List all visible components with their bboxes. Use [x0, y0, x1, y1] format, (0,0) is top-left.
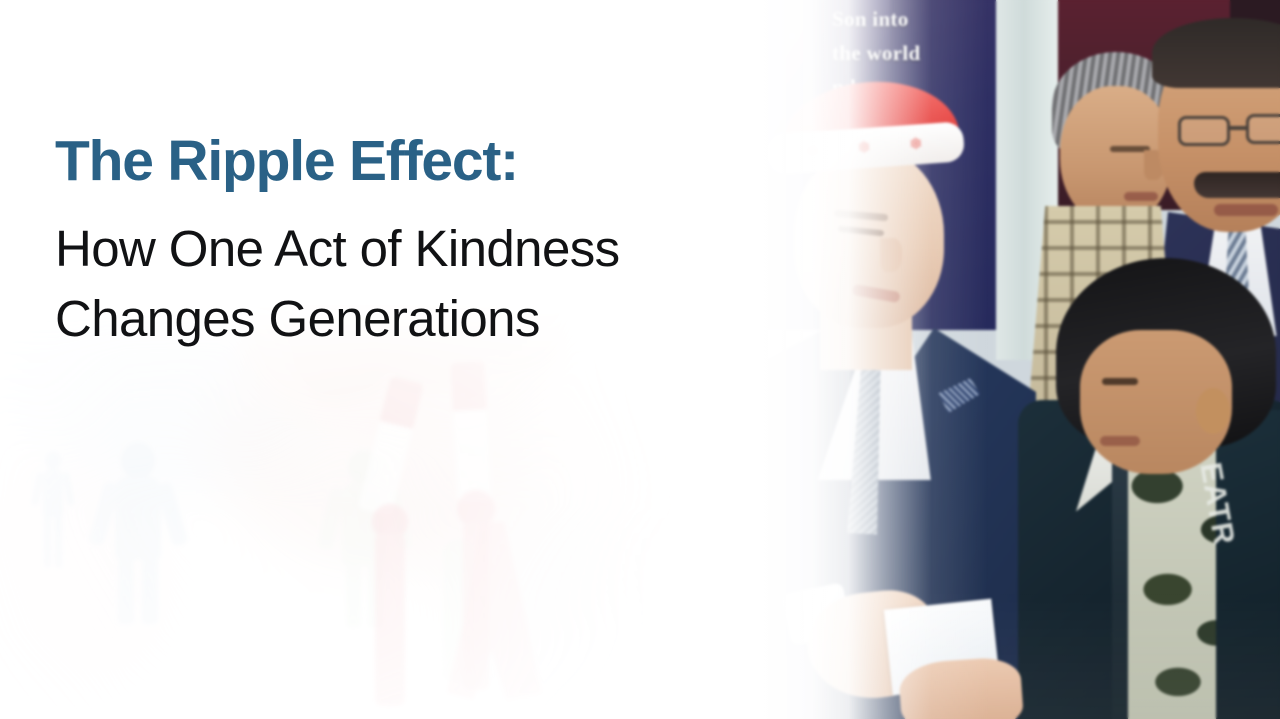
- subtitle-line-2: Changes Generations: [55, 284, 755, 354]
- watermark-paper-doll-green-small: [430, 540, 486, 680]
- watermark-paper-doll-green: [318, 450, 410, 628]
- watermark-pin-figure: [362, 504, 418, 704]
- watermark-fade-overlay: [0, 300, 720, 719]
- subtitle-line-1: How One Act of Kindness: [55, 214, 755, 284]
- watermark-blob: [0, 450, 170, 719]
- background-watermark-image: [0, 300, 720, 719]
- watermark-pin-figure-cape: [436, 522, 546, 700]
- photo-left-fade-gradient: [760, 0, 1280, 719]
- watermark-paper-doll-blue-small: [32, 452, 74, 572]
- marketing-banner: The Ripple Effect: How One Act of Kindne…: [0, 0, 1280, 719]
- banner-text-block: The Ripple Effect: How One Act of Kindne…: [55, 132, 755, 355]
- watermark-blob: [480, 500, 720, 719]
- watermark-clothespin: [450, 361, 491, 503]
- watermark-paper-doll-red: [0, 470, 8, 620]
- watermark-blob: [390, 340, 690, 640]
- hero-photo: Son into the world ndemn orld, hat rld g…: [760, 0, 1280, 719]
- watermark-paper-doll-blue-large: [88, 442, 188, 622]
- watermark-clothespin: [358, 376, 424, 516]
- watermark-pin-figure: [448, 490, 504, 690]
- page-title: The Ripple Effect:: [55, 132, 755, 192]
- page-subtitle: How One Act of Kindness Changes Generati…: [55, 214, 755, 355]
